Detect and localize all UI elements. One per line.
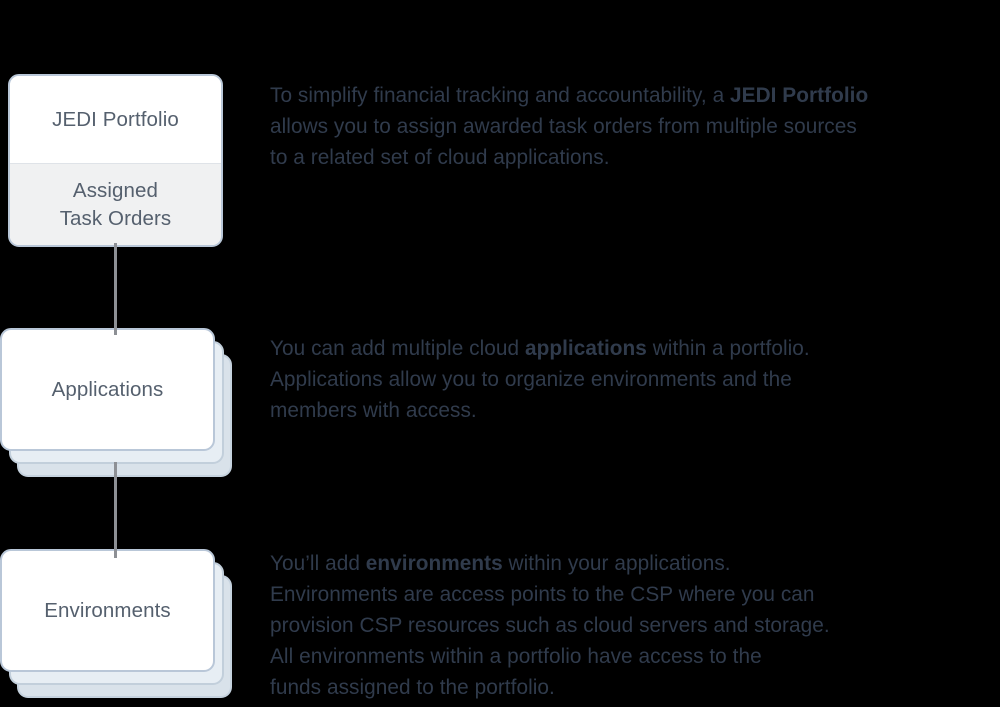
node-environments-stack[interactable]: Environments: [0, 549, 232, 699]
description-portfolio: To simplify financial tracking and accou…: [270, 80, 1000, 173]
text-line: You can add multiple cloud applications …: [270, 333, 1000, 364]
text-line: All environments within a portfolio have…: [270, 641, 1000, 672]
node-assigned-task-orders-label: Assigned Task Orders: [60, 177, 172, 231]
node-jedi-portfolio-header: JEDI Portfolio: [10, 76, 221, 163]
text-line: funds assigned to the portfolio.: [270, 672, 1000, 703]
node-applications-stack[interactable]: Applications: [0, 328, 232, 478]
text-line: Environments are access points to the CS…: [270, 579, 1000, 610]
connector-portfolio-to-applications: [114, 243, 117, 335]
text-line: allows you to assign awarded task orders…: [270, 111, 1000, 142]
description-environments: You’ll add environments within your appl…: [270, 548, 1000, 703]
connector-applications-to-environments: [114, 462, 117, 558]
emphasis-term: JEDI Portfolio: [730, 84, 868, 107]
portfolio-hierarchy-diagram: JEDI Portfolio Assigned Task Orders Appl…: [0, 0, 1000, 707]
node-jedi-portfolio[interactable]: JEDI Portfolio Assigned Task Orders: [8, 74, 223, 247]
node-assigned-task-orders: Assigned Task Orders: [10, 163, 221, 245]
text-line: To simplify financial tracking and accou…: [270, 80, 1000, 111]
text-line: provision CSP resources such as cloud se…: [270, 610, 1000, 641]
text-line: members with access.: [270, 395, 1000, 426]
emphasis-term: applications: [525, 337, 647, 360]
text-line: to a related set of cloud applications.: [270, 142, 1000, 173]
environments-stack-layer-front[interactable]: Environments: [0, 549, 215, 672]
node-environments-label: Environments: [44, 597, 171, 624]
emphasis-term: environments: [366, 552, 503, 575]
applications-stack-layer-front[interactable]: Applications: [0, 328, 215, 451]
text-line: Applications allow you to organize envir…: [270, 364, 1000, 395]
description-applications: You can add multiple cloud applications …: [270, 333, 1000, 426]
node-jedi-portfolio-label: JEDI Portfolio: [52, 106, 179, 133]
node-applications-label: Applications: [52, 376, 164, 403]
text-line: You’ll add environments within your appl…: [270, 548, 1000, 579]
